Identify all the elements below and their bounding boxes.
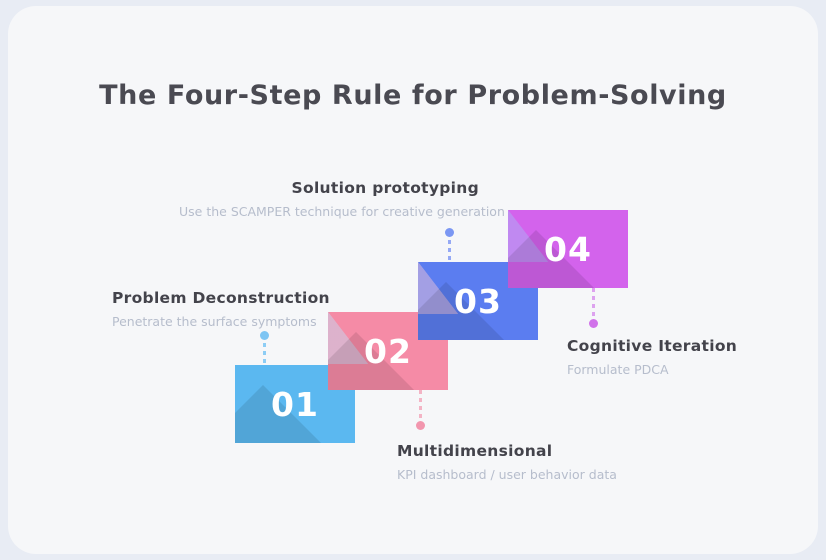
step-01-label: Problem Deconstruction Penetrate the sur… bbox=[112, 289, 330, 329]
step-03-subtitle: Use the SCAMPER technique for creative g… bbox=[179, 204, 479, 219]
connector-04 bbox=[592, 288, 595, 324]
step-04-subtitle: Formulate PDCA bbox=[567, 362, 737, 377]
step-04-heading: Cognitive Iteration bbox=[567, 337, 737, 355]
step-03-heading-wrap: Solution prototyping bbox=[179, 179, 479, 197]
step-04-label: Cognitive Iteration Formulate PDCA bbox=[567, 337, 737, 377]
step-02-heading: Multidimensional bbox=[397, 442, 617, 460]
connector-04-dot bbox=[589, 319, 598, 328]
connector-02-dot bbox=[416, 421, 425, 430]
page-title: The Four-Step Rule for Problem-Solving bbox=[8, 80, 818, 111]
step-01-heading: Problem Deconstruction bbox=[112, 289, 330, 307]
connector-03-dot bbox=[445, 228, 454, 237]
connector-02 bbox=[419, 390, 422, 426]
step-03-label: Solution prototyping Use the SCAMPER tec… bbox=[179, 179, 479, 219]
connector-01-dot bbox=[260, 331, 269, 340]
connector-03 bbox=[448, 232, 451, 264]
step-02-subtitle: KPI dashboard / user behavior data bbox=[397, 467, 617, 482]
infographic-card: The Four-Step Rule for Problem-Solving 0… bbox=[8, 6, 818, 554]
step-02-label: Multidimensional KPI dashboard / user be… bbox=[397, 442, 617, 482]
step-03-heading: Solution prototyping bbox=[292, 179, 479, 197]
step-01-subtitle: Penetrate the surface symptoms bbox=[112, 314, 330, 329]
connector-01 bbox=[263, 335, 266, 367]
step-04-number: 04 bbox=[508, 210, 628, 288]
step-square-04[interactable]: 04 bbox=[508, 210, 628, 288]
